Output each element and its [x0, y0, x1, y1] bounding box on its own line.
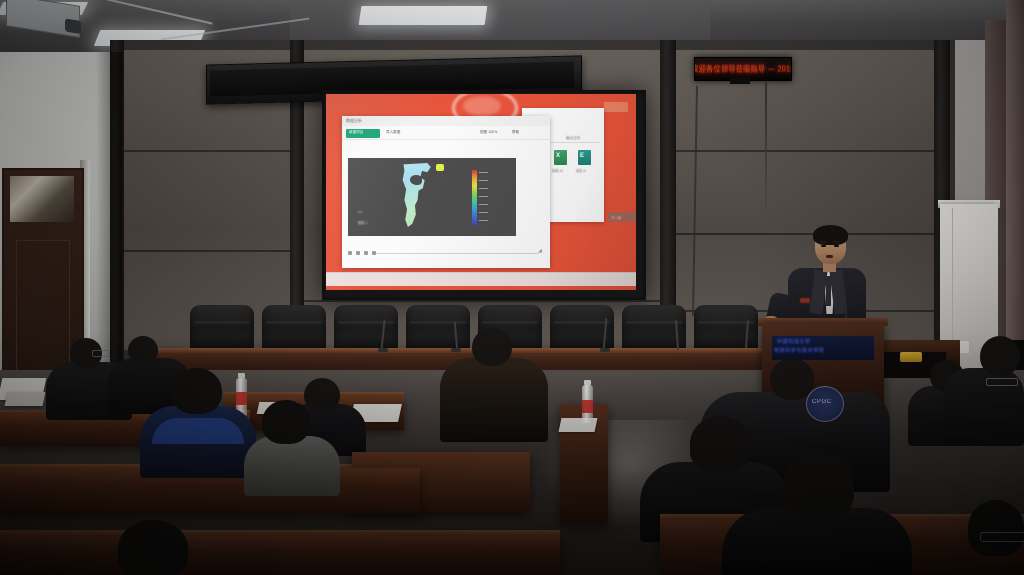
file-panel-header: 最近文件 — [566, 136, 580, 141]
microphone-base — [600, 348, 610, 352]
speaker-mouth — [826, 255, 833, 258]
conference-chair[interactable] — [334, 305, 398, 353]
map-canvas[interactable]: km 图层 1 — [348, 158, 516, 236]
statusbar-icon[interactable] — [348, 251, 352, 255]
file-icon-et-glyph: E — [580, 153, 584, 159]
hoodie-collar — [152, 418, 244, 444]
conference-chair[interactable] — [406, 305, 470, 353]
conference-chair[interactable] — [262, 305, 326, 353]
desktop-top-chip — [604, 102, 628, 112]
paper-sheet[interactable] — [5, 392, 46, 406]
bottle-cap — [238, 373, 245, 378]
conference-room-photo: 热烈欢迎各位领导莅临指导 — 2019年度 最近文件 X E 报告.doc 数据… — [0, 0, 1024, 575]
eyeglasses — [980, 532, 1024, 542]
right-wall-pipe — [1006, 0, 1024, 340]
eyeglasses — [986, 378, 1018, 386]
zoom-level-label[interactable]: 视图 100% — [480, 130, 497, 135]
speaker-eyebrow — [820, 241, 827, 243]
audience-person-head — [118, 520, 188, 575]
statusbar-icon[interactable] — [364, 251, 368, 255]
import-data-menu-item[interactable]: 导入数据 — [386, 130, 400, 135]
speaker-hair — [813, 225, 848, 245]
podium-nameplate-line1: 中国石油大学 — [777, 338, 811, 345]
audience-person-head — [782, 452, 854, 518]
conference-chair[interactable] — [190, 305, 254, 353]
conference-chair[interactable] — [694, 305, 758, 353]
led-banner-text: 热烈欢迎各位领导莅临指导 — 2019年度 — [694, 63, 792, 75]
audience-person-head — [172, 368, 222, 414]
new-project-button-label: 新建项目 — [349, 130, 363, 135]
led-banner-mount — [730, 78, 750, 84]
head-table-surface — [155, 348, 775, 353]
file-label: 模型.et — [576, 168, 586, 173]
panel-seam — [300, 300, 660, 302]
resize-corner-icon[interactable]: ◢ — [538, 248, 542, 254]
cpgc-logo-text: CPGC — [812, 399, 832, 405]
help-menu-item[interactable]: 帮助 — [512, 130, 519, 135]
microphone-base — [451, 348, 461, 352]
eyeglasses — [92, 350, 110, 357]
audience-person-grey — [244, 436, 340, 496]
region-highlight — [436, 164, 444, 171]
projector-lens — [65, 18, 81, 34]
audience-person — [440, 358, 548, 442]
region-heatmap-shape — [400, 163, 444, 229]
speaker-lapel-badge — [800, 298, 810, 303]
canvas-axis-label: km — [358, 210, 363, 214]
speaker-tie — [826, 276, 831, 306]
audience-person-head — [770, 358, 814, 400]
speaker-eye — [834, 245, 839, 247]
audience-person-head — [304, 378, 340, 412]
projection-screen: 最近文件 X E 报告.doc 数据.xls 模型.et 数据分析 新建项目 导… — [326, 94, 636, 290]
audience-desk — [0, 536, 560, 575]
file-label: 数据.xls — [552, 168, 563, 173]
canvas-layer-label: 图层 1 — [358, 220, 368, 225]
audience-person-head — [128, 336, 158, 364]
yellow-box-object[interactable] — [900, 352, 922, 362]
desktop-logo-inner-icon — [463, 96, 501, 116]
ceiling-light-panel — [359, 6, 488, 25]
speaker-eye — [821, 245, 826, 247]
bottle-label — [236, 392, 247, 405]
statusbar-scrollbar[interactable] — [376, 253, 538, 254]
audience-person-front — [722, 508, 912, 575]
rainbow-colorbar — [472, 170, 477, 225]
panel-seam — [676, 150, 936, 152]
main-app-window[interactable]: 数据分析 新建项目 导入数据 视图 100% 帮助 km 图层 1 — [342, 116, 550, 268]
podium-nameplate-line2: 地球科学与技术学院 — [774, 347, 824, 354]
ceiling-soffit — [290, 0, 710, 42]
bottle-label — [582, 400, 593, 413]
statusbar-icon[interactable] — [356, 251, 360, 255]
speaker-eyebrow — [833, 241, 840, 243]
bottle-cap — [584, 380, 591, 385]
microphone-base — [378, 348, 388, 352]
panel-seam — [122, 250, 292, 252]
door-transom-glass — [10, 176, 74, 222]
audience-person-head — [262, 400, 310, 444]
audience-person-head — [472, 328, 512, 366]
window-title: 数据分析 — [346, 118, 362, 124]
floating-chip-label: 下一页 — [611, 215, 621, 220]
taskbar[interactable]: 中 14:28 — [326, 272, 636, 286]
panel-seam — [122, 150, 292, 152]
hanging-cable — [765, 82, 767, 210]
file-icon-xls-glyph: X — [556, 153, 560, 159]
audience-person-head — [968, 500, 1024, 556]
panel-seam — [676, 233, 936, 235]
audience-person-head — [980, 336, 1020, 376]
audience-person-head — [690, 416, 750, 472]
region-hole — [410, 175, 422, 185]
